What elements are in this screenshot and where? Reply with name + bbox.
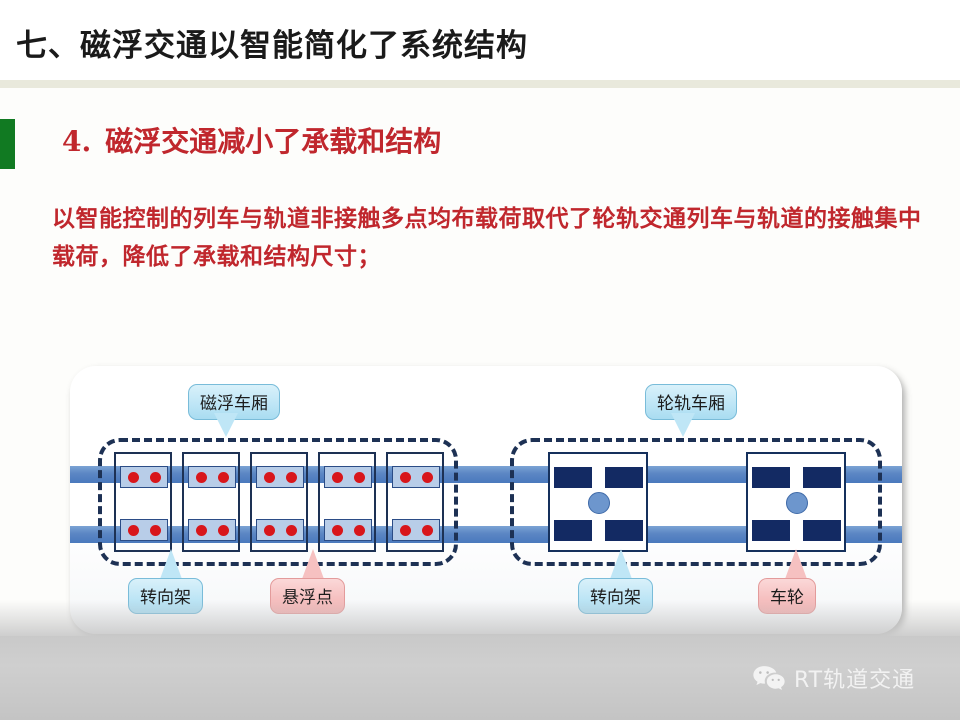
slide: 七、磁浮交通以智能简化了系统结构 4.磁浮交通减小了承载和结构 以智能控制的列车…	[0, 0, 960, 720]
maglev-pad-bottom	[324, 519, 372, 541]
maglev-pad-top	[120, 466, 168, 488]
suspension-point	[422, 525, 433, 536]
callout-pointer-icon	[160, 549, 182, 579]
section-marker-bar	[0, 119, 15, 169]
suspension-point	[150, 472, 161, 483]
maglev-bogie	[114, 452, 172, 552]
suspension-point	[400, 525, 411, 536]
title-divider	[0, 80, 960, 88]
suspension-point	[286, 472, 297, 483]
maglev-pad-bottom	[188, 519, 236, 541]
callout-pointer-icon	[610, 549, 632, 579]
suspension-point	[218, 472, 229, 483]
callout-pointer-icon	[785, 549, 807, 579]
maglev-pad-bottom	[392, 519, 440, 541]
suspension-point	[196, 525, 207, 536]
maglev-bogie	[182, 452, 240, 552]
title-bar: 七、磁浮交通以智能简化了系统结构	[0, 0, 960, 82]
suspension-point	[128, 525, 139, 536]
section-heading-text: 磁浮交通减小了承载和结构	[105, 125, 441, 158]
footer-gradient-top	[0, 600, 960, 640]
watermark: RT轨道交通	[752, 662, 915, 694]
maglev-pad-top	[392, 466, 440, 488]
wheel-block	[752, 520, 790, 541]
maglev-pad-bottom	[120, 519, 168, 541]
wheel-block	[554, 520, 592, 541]
watermark-label: RT轨道交通	[794, 662, 915, 694]
wheel-block	[554, 467, 592, 488]
suspension-point	[218, 525, 229, 536]
wechat-icon	[752, 664, 786, 692]
maglev-pad-top	[256, 466, 304, 488]
suspension-point	[286, 525, 297, 536]
suspension-point	[422, 472, 433, 483]
callout-pointer-icon	[214, 413, 238, 437]
wheel-block	[605, 467, 643, 488]
maglev-pad-bottom	[256, 519, 304, 541]
section-number: 4.	[62, 125, 91, 158]
callout-pointer-icon	[302, 549, 324, 579]
wheelrail-bogie	[548, 452, 648, 552]
maglev-bogie	[318, 452, 376, 552]
diagram-panel: 磁浮车厢 轮轨车厢 转向架 悬浮点 转向架 车轮	[70, 366, 902, 634]
wheelrail-bogie	[746, 452, 846, 552]
suspension-point	[332, 472, 343, 483]
suspension-point	[196, 472, 207, 483]
maglev-bogie	[250, 452, 308, 552]
suspension-point	[264, 472, 275, 483]
wheel-block	[605, 520, 643, 541]
section-paragraph: 以智能控制的列车与轨道非接触多点均布载荷取代了轮轨交通列车与轨道的接触集中载荷，…	[52, 200, 922, 276]
suspension-point	[128, 472, 139, 483]
diagram-canvas: 磁浮车厢 轮轨车厢 转向架 悬浮点 转向架 车轮	[70, 366, 902, 634]
suspension-point	[400, 472, 411, 483]
maglev-pad-top	[324, 466, 372, 488]
wheel-block	[803, 520, 841, 541]
maglev-bogie	[386, 452, 444, 552]
suspension-point	[354, 525, 365, 536]
suspension-point	[354, 472, 365, 483]
bogie-axle-circle	[588, 492, 610, 514]
wheel-block	[803, 467, 841, 488]
callout-pointer-icon	[671, 413, 695, 437]
suspension-point	[332, 525, 343, 536]
suspension-point	[150, 525, 161, 536]
maglev-pad-top	[188, 466, 236, 488]
suspension-point	[264, 525, 275, 536]
section-heading: 4.磁浮交通减小了承载和结构	[62, 120, 441, 160]
wheel-block	[752, 467, 790, 488]
page-title: 七、磁浮交通以智能简化了系统结构	[16, 20, 528, 65]
bogie-axle-circle	[786, 492, 808, 514]
